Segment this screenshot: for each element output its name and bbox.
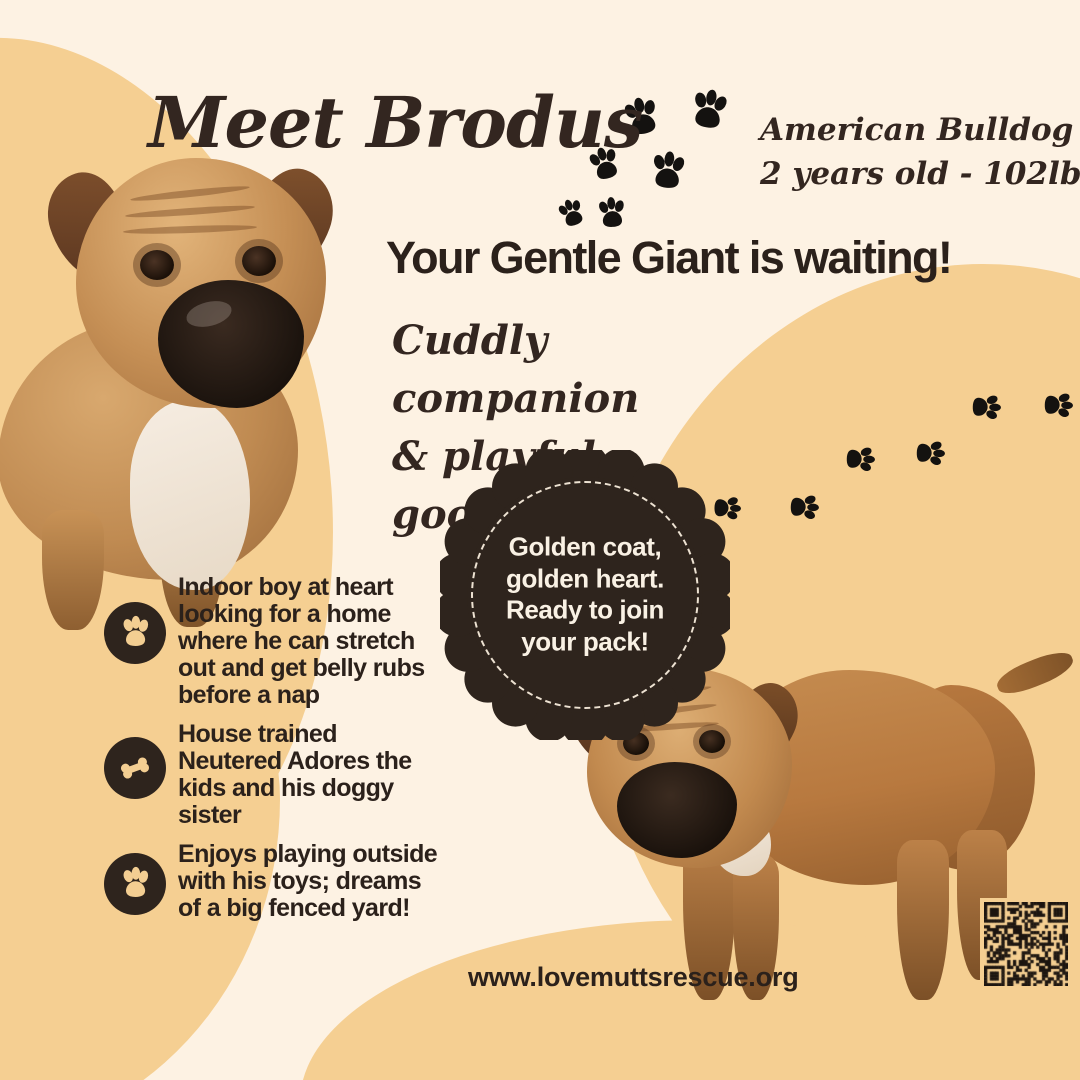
website-url[interactable]: www.lovemuttsrescue.org (468, 962, 799, 993)
status-badge: Golden coat, golden heart. Ready to join… (440, 450, 730, 740)
headline: Your Gentle Giant is waiting! (386, 232, 951, 284)
dog-chest (130, 400, 250, 590)
adoption-flyer: Meet Brodus American Bulldog 2 years old… (0, 0, 1080, 1080)
list-item-label: Indoor boy at heart looking for a home w… (178, 574, 444, 709)
badge-line-2: golden heart. (478, 563, 692, 595)
paw-print-icon (593, 195, 631, 233)
badge-line-4: your pack! (478, 627, 692, 659)
dog-eye-right (242, 246, 276, 276)
dog-photo-sitting (0, 150, 380, 620)
paw-icon (104, 853, 166, 915)
list-item: Enjoys playing outside with his toys; dr… (104, 841, 444, 922)
paw-print-icon (551, 193, 592, 234)
feature-list: Indoor boy at heart looking for a home w… (104, 574, 444, 934)
breed-label: American Bulldog (760, 108, 1080, 152)
paw-print-icon (682, 84, 735, 137)
dog-leg-back-left (897, 840, 949, 1000)
qr-code[interactable] (980, 898, 1072, 990)
list-item: Indoor boy at heart looking for a home w… (104, 574, 444, 709)
age-weight-label: 2 years old - 102lbs (760, 152, 1080, 196)
paw-print-icon (644, 148, 692, 196)
subheadline-line-1: Cuddly companion (392, 312, 792, 428)
paw-print-icon (967, 389, 1002, 424)
list-item-label: Enjoys playing outside with his toys; dr… (178, 841, 444, 922)
bone-icon (104, 737, 166, 799)
paw-icon (104, 602, 166, 664)
paw-print-icon (911, 435, 946, 470)
badge-line-3: Ready to join (478, 595, 692, 627)
paw-print-icon (1039, 387, 1074, 422)
qr-code-canvas (984, 902, 1068, 986)
list-item: House trained Neutered Adores the kids a… (104, 721, 444, 829)
paw-print-icon (841, 441, 876, 476)
breed-info: American Bulldog 2 years old - 102lbs (760, 108, 1080, 196)
dog-eye-left (140, 250, 174, 280)
badge-text: Golden coat, golden heart. Ready to join… (478, 532, 692, 659)
badge-line-1: Golden coat, (478, 532, 692, 564)
list-item-label: House trained Neutered Adores the kids a… (178, 721, 444, 829)
page-title: Meet Brodus (148, 88, 642, 158)
dog-leg-left (42, 510, 104, 630)
